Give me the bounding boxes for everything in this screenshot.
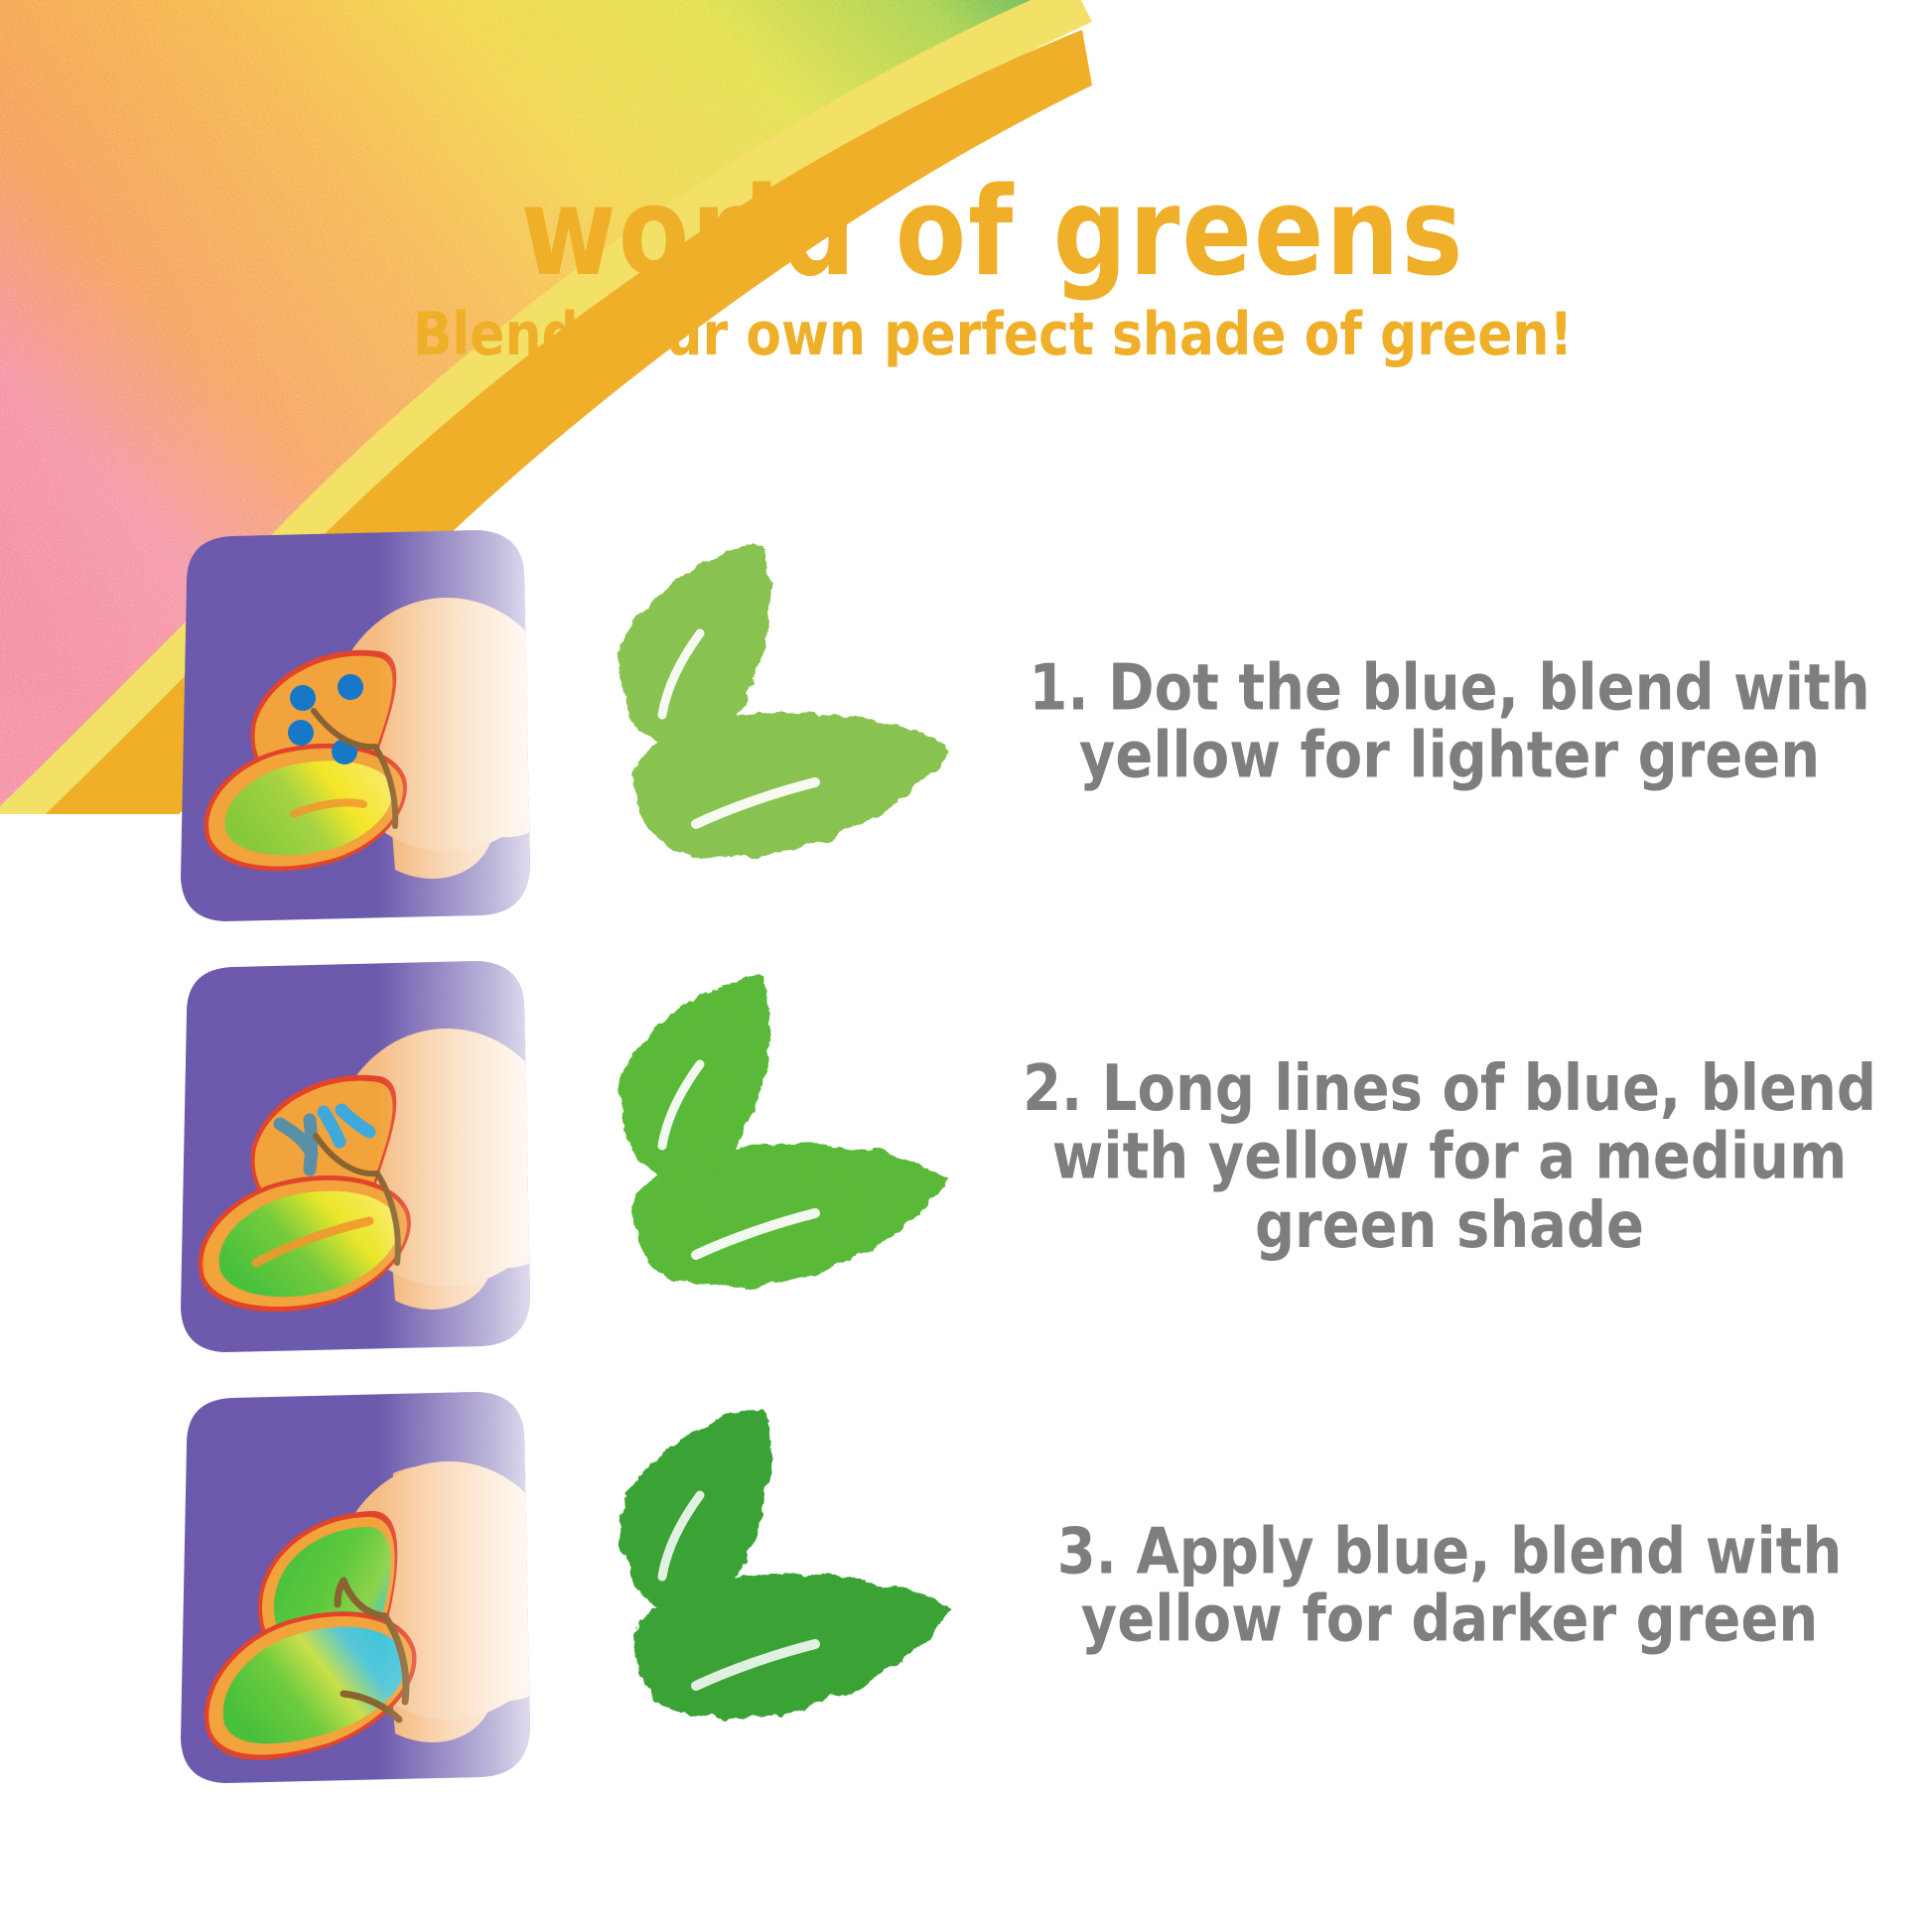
step-line: yellow for darker green: [993, 1587, 1906, 1655]
step-1-text: 1. Dot the blue, blend with yellow for l…: [993, 655, 1906, 792]
poster-canvas: world of greens Blend your own perfect s…: [0, 0, 1932, 1932]
step-line: green shade: [993, 1192, 1906, 1261]
butterfly-panel-dots: [149, 516, 566, 933]
page-title: world of greens: [328, 171, 1658, 293]
step-line: with yellow for a medium: [993, 1124, 1906, 1192]
step-line: 3. Apply blue, blend with: [993, 1519, 1906, 1587]
step-line: 1. Dot the blue, blend with: [993, 655, 1906, 724]
medium-green-leaf-swatch: [601, 965, 978, 1332]
step-3-text: 3. Apply blue, blend with yellow for dar…: [993, 1519, 1906, 1656]
light-green-leaf-swatch: [601, 534, 978, 901]
poster-header: world of greens Blend your own perfect s…: [328, 171, 1658, 357]
step-line: yellow for lighter green: [993, 723, 1906, 791]
butterfly-panel-full: [149, 1378, 566, 1795]
step-line: 2. Long lines of blue, blend: [993, 1055, 1906, 1124]
step-row: 3. Apply blue, blend with yellow for dar…: [0, 1378, 1932, 1809]
step-row: 1. Dot the blue, blend with yellow for l…: [0, 516, 1932, 947]
dark-green-leaf-swatch: [601, 1396, 978, 1763]
step-2-text: 2. Long lines of blue, blend with yellow…: [993, 1055, 1906, 1261]
page-subtitle: Blend your own perfect shade of green!: [328, 306, 1658, 364]
butterfly-panel-lines: [149, 947, 566, 1364]
step-row: 2. Long lines of blue, blend with yellow…: [0, 947, 1932, 1378]
steps-list: 1. Dot the blue, blend with yellow for l…: [0, 516, 1932, 1809]
